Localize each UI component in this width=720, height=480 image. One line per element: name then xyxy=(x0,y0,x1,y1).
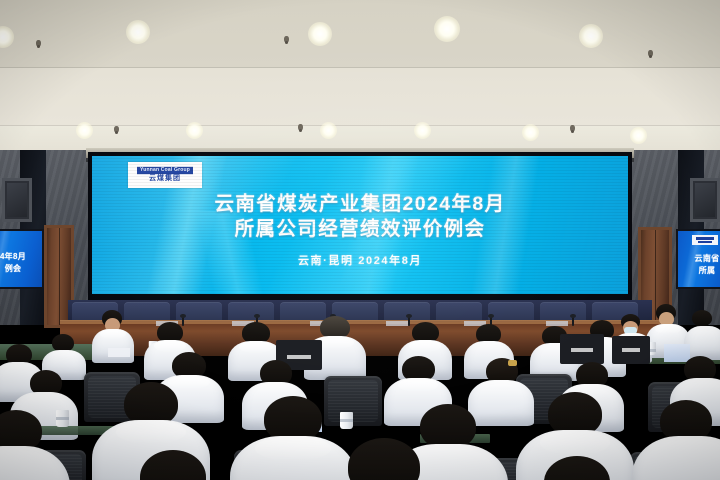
side-monitor-left-line-1: 4年8月 xyxy=(0,251,42,262)
sprinkler-head xyxy=(570,125,575,132)
audience-seating xyxy=(0,300,720,480)
sprinkler-head xyxy=(284,36,289,43)
laptop[interactable] xyxy=(560,334,604,364)
cup xyxy=(56,410,69,427)
sprinkler-head xyxy=(36,40,41,47)
side-monitor-left[interactable]: 4年8月 例会 xyxy=(0,229,44,289)
hair xyxy=(420,404,476,449)
side-monitor-right-line-1: 云南省 xyxy=(678,253,720,264)
ceiling-light xyxy=(308,22,332,46)
document xyxy=(108,348,130,357)
laptop-screen xyxy=(614,348,648,352)
ceiling-light xyxy=(579,24,603,48)
chair[interactable] xyxy=(324,376,382,426)
side-monitor-right-line-2: 所属 xyxy=(678,265,720,276)
ceiling-seam-2 xyxy=(0,125,720,126)
laptop[interactable] xyxy=(612,336,650,364)
ceiling-seam-1 xyxy=(0,67,720,68)
side-monitor-logo xyxy=(692,235,718,245)
side-monitor-left-screen: 4年8月 例会 xyxy=(0,231,42,287)
side-monitor-left-line-2: 例会 xyxy=(0,263,42,274)
ceiling-band-upper xyxy=(0,0,720,68)
ceiling-light xyxy=(126,20,150,44)
side-monitor-right[interactable]: 云南省 所属 xyxy=(676,229,720,289)
shirt xyxy=(632,436,720,480)
wall-framed-panel-left xyxy=(2,178,32,222)
ceiling-light xyxy=(186,122,203,139)
side-monitor-right-screen: 云南省 所属 xyxy=(678,231,720,287)
hair xyxy=(348,438,420,480)
conference-hall-photo: Yunnan Coal Group 云煤集团 云南省煤炭产业集团2024年8月 … xyxy=(0,0,720,480)
cup xyxy=(340,412,353,429)
hair xyxy=(692,310,712,326)
ceiling-light xyxy=(320,122,337,139)
document-stack xyxy=(664,344,690,362)
shirt xyxy=(468,380,534,426)
ceiling-light xyxy=(630,127,647,144)
wall-framed-panel-right xyxy=(690,178,720,222)
laptop-screen xyxy=(562,348,602,352)
screen-glare xyxy=(92,156,628,294)
sprinkler-head xyxy=(298,124,303,131)
sprinkler-head xyxy=(114,126,119,133)
ceiling-light xyxy=(414,122,431,139)
ceiling-light xyxy=(522,124,539,141)
shirt xyxy=(92,329,134,363)
ceiling-light xyxy=(434,16,460,42)
main-slide: Yunnan Coal Group 云煤集团 云南省煤炭产业集团2024年8月 … xyxy=(92,156,628,294)
hair-clip xyxy=(508,360,517,366)
sprinkler-head xyxy=(648,50,653,57)
main-led-screen[interactable]: Yunnan Coal Group 云煤集团 云南省煤炭产业集团2024年8月 … xyxy=(88,152,632,300)
shirt xyxy=(230,436,356,480)
ceiling-light xyxy=(76,122,93,139)
ceiling-band-middle xyxy=(0,68,720,126)
